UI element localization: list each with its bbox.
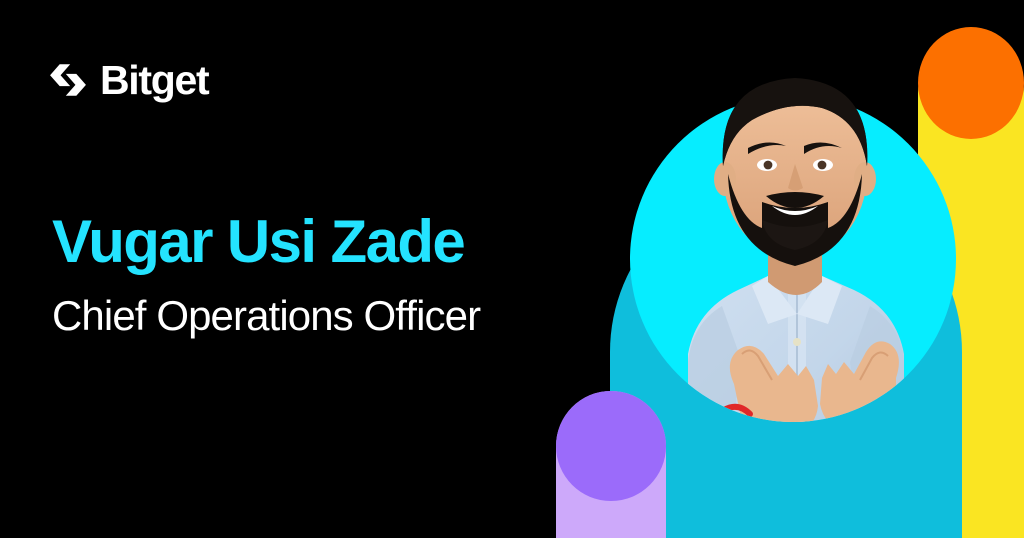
bitget-double-chevron-icon [47,59,89,101]
person-title: Chief Operations Officer [52,291,592,341]
brand-wordmark: Bitget [100,60,208,101]
portrait-photo [592,24,996,494]
headline-block: Vugar Usi Zade Chief Operations Officer [52,208,592,342]
portrait [630,96,956,422]
brand-lockup: Bitget [47,59,208,101]
person-name: Vugar Usi Zade [52,208,592,275]
bitget-executive-banner: Bitget Vugar Usi Zade Chief Operations O… [0,0,1024,538]
